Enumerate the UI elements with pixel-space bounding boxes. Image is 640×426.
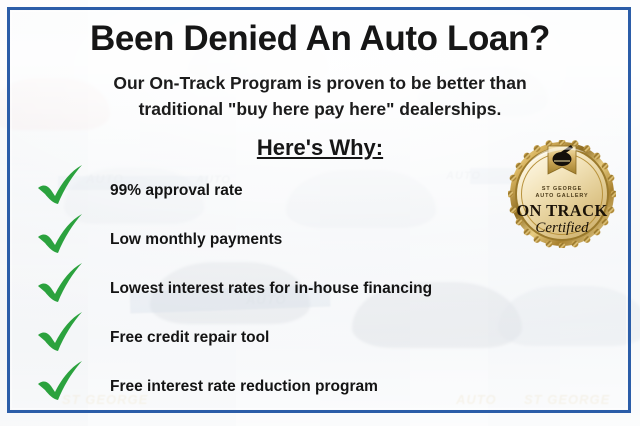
subtitle: Our On-Track Program is proven to be bet… bbox=[56, 70, 584, 122]
list-item: Free credit repair tool bbox=[34, 313, 554, 362]
benefits-list: 99% approval rate Low monthly payments L… bbox=[34, 166, 554, 411]
seal-title: ON TRACK bbox=[516, 201, 607, 220]
subtitle-line-1: Our On-Track Program is proven to be bet… bbox=[56, 70, 584, 96]
seal-script: Certified bbox=[535, 220, 589, 236]
list-item-label: Lowest interest rates for in-house finan… bbox=[110, 279, 432, 299]
list-item-label: Low monthly payments bbox=[110, 230, 282, 250]
list-item: Lowest interest rates for in-house finan… bbox=[34, 264, 554, 313]
section-heading-label: Here's Why: bbox=[257, 135, 383, 160]
auto-loan-promo-poster: AUTO AUTO AUTO AUTO ST GEORGE AUTO ST GE… bbox=[0, 0, 640, 426]
seal-brand-line-1: ST GEORGE bbox=[542, 186, 582, 192]
green-checkmark-icon bbox=[34, 212, 86, 258]
page-title: Been Denied An Auto Loan? bbox=[0, 19, 640, 59]
green-checkmark-icon bbox=[34, 261, 86, 307]
list-item: Free interest rate reduction program bbox=[34, 362, 554, 411]
list-item-label: Free credit repair tool bbox=[110, 328, 269, 348]
subtitle-line-2: traditional "buy here pay here" dealersh… bbox=[56, 96, 584, 122]
list-item: 99% approval rate bbox=[34, 166, 554, 215]
green-checkmark-icon bbox=[34, 310, 86, 356]
gold-certified-seal-icon: ST GEORGE AUTO GALLERY ON TRACK Certifie… bbox=[508, 140, 616, 248]
list-item: Low monthly payments bbox=[34, 215, 554, 264]
seal-brand-line-2: AUTO GALLERY bbox=[535, 193, 588, 199]
poster-content: Been Denied An Auto Loan? Our On-Track P… bbox=[0, 0, 640, 426]
green-checkmark-icon bbox=[34, 359, 86, 405]
list-item-label: 99% approval rate bbox=[110, 181, 243, 201]
list-item-label: Free interest rate reduction program bbox=[110, 377, 378, 397]
green-checkmark-icon bbox=[34, 163, 86, 209]
